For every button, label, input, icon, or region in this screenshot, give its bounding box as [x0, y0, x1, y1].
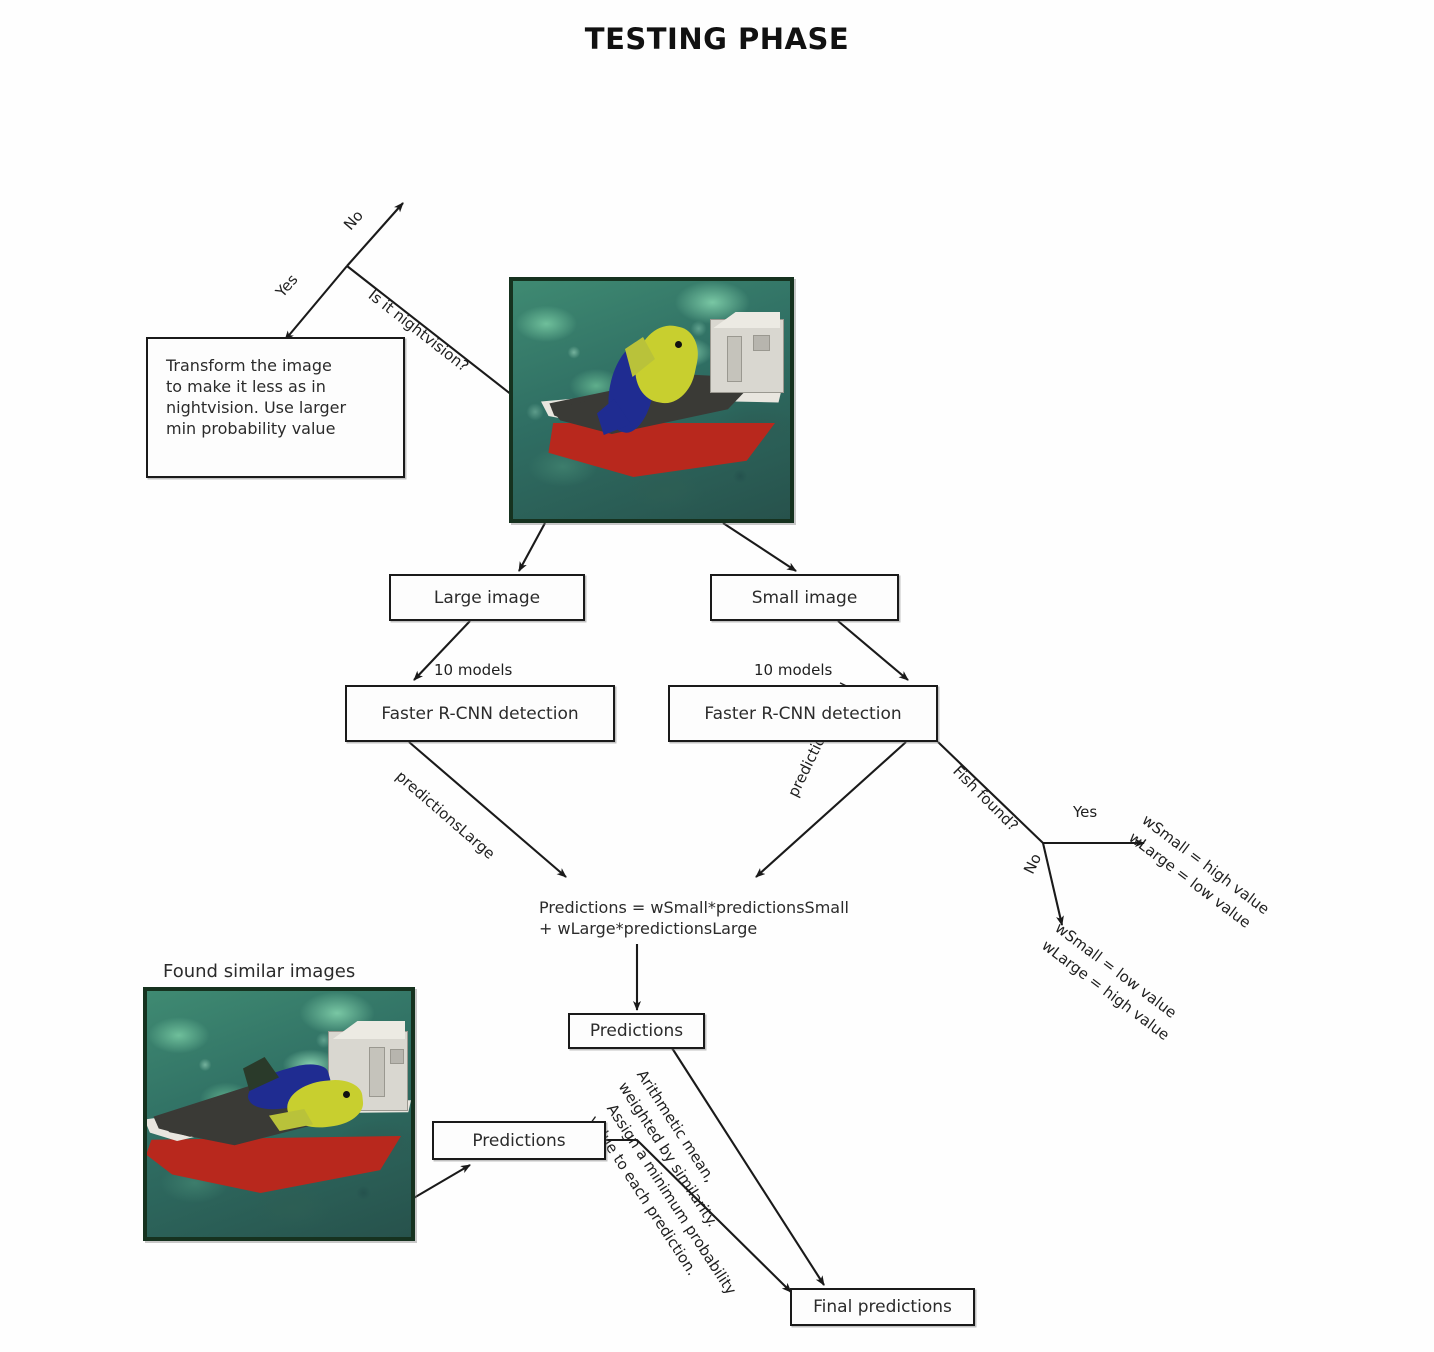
- main-input-photo: [509, 277, 794, 523]
- faster-rcnn-small-box[interactable]: Faster R-CNN detection: [668, 685, 938, 742]
- large-image-box[interactable]: Large image: [389, 574, 585, 621]
- edge-label-weights-yes: wSmall = high value wLarge = low value: [1124, 810, 1274, 938]
- edge-label-fish-yes: Yes: [1073, 803, 1097, 821]
- page-title: TESTING PHASE: [0, 22, 1434, 56]
- edge-label-weights-no: wSmall = low value wLarge = high value: [1037, 918, 1187, 1046]
- boat-cabin: [710, 319, 784, 393]
- edge-predictions-small: [756, 742, 906, 877]
- edge-label-fish-no: No: [1020, 851, 1045, 877]
- edge-small-to-rcnn: [838, 621, 908, 680]
- edge-fish-no: [1043, 843, 1062, 925]
- boat-cabin-door: [727, 336, 742, 382]
- edge-label-fish-found: Fish found?: [949, 762, 1022, 835]
- transform-image-box[interactable]: Transform the image to make it less as i…: [146, 337, 405, 478]
- small-image-box[interactable]: Small image: [710, 574, 899, 621]
- faster-rcnn-large-box[interactable]: Faster R-CNN detection: [345, 685, 615, 742]
- edge-photo-to-large: [519, 523, 545, 571]
- similar-images-photo: [143, 987, 415, 1241]
- fish-eye-similar: [343, 1091, 350, 1098]
- edge-label-predictions-large: predictionsLarge: [392, 767, 498, 863]
- predictions-similar-box[interactable]: Predictions: [432, 1121, 606, 1160]
- edge-label-models-small: 10 models: [754, 661, 832, 679]
- edge-label-nightvision-yes: Yes: [272, 271, 301, 301]
- edge-photo-to-small: [723, 523, 796, 571]
- edge-label-nightvision-no: No: [340, 207, 367, 234]
- found-similar-images-label: Found similar images: [163, 960, 355, 983]
- boat-cabin-window: [753, 335, 770, 351]
- predictions-formula: Predictions = wSmall*predictionsSmall + …: [539, 898, 849, 940]
- boat-cabin-window-similar: [390, 1049, 404, 1064]
- fish-eye: [675, 341, 682, 348]
- edge-label-models-large: 10 models: [434, 661, 512, 679]
- boat-cabin-door-similar: [369, 1047, 385, 1097]
- final-predictions-box[interactable]: Final predictions: [790, 1288, 975, 1326]
- predictions-main-box[interactable]: Predictions: [568, 1013, 705, 1049]
- diagram-canvas: TESTING PHASE: [0, 0, 1434, 1352]
